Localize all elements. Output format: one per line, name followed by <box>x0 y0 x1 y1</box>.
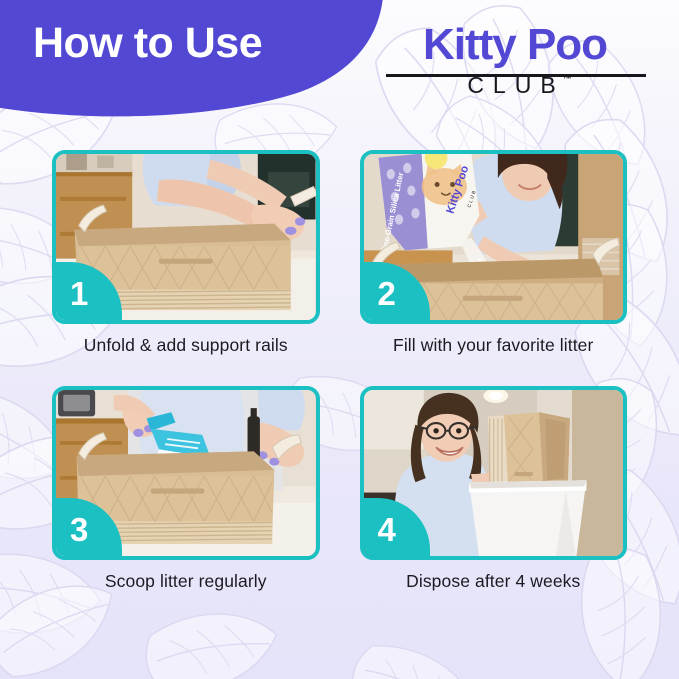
trademark-symbol: ™ <box>563 75 572 84</box>
step-3: 3 Scoop litter regularly <box>52 386 320 592</box>
step-2-caption: Fill with your favorite litter <box>360 335 628 356</box>
step-1: 1 Unfold & add support rails <box>52 150 320 356</box>
step-1-caption: Unfold & add support rails <box>52 335 320 356</box>
logo-club-text: CLUB <box>458 74 564 97</box>
step-number: 1 <box>56 277 88 320</box>
step-4: 4 Dispose after 4 weeks <box>360 386 628 592</box>
step-4-card: 4 <box>360 386 628 560</box>
step-2-card: Fine-Grain Silica Litter Kitty Poo CLUB <box>360 150 628 324</box>
header: How to Use Kitty Poo CLUB ™ <box>0 0 679 140</box>
step-number: 3 <box>56 513 88 556</box>
page-title: How to Use <box>33 22 333 65</box>
brand-logo: Kitty Poo CLUB ™ <box>380 22 650 114</box>
step-3-caption: Scoop litter regularly <box>52 571 320 592</box>
step-1-card: 1 <box>52 150 320 324</box>
step-2: Fine-Grain Silica Litter Kitty Poo CLUB <box>360 150 628 356</box>
logo-wordmark: Kitty Poo <box>380 22 650 68</box>
logo-club-row: CLUB ™ <box>380 74 650 97</box>
step-3-card: 3 <box>52 386 320 560</box>
step-number: 2 <box>364 277 396 320</box>
steps-grid: 1 Unfold & add support rails <box>0 150 679 592</box>
step-number: 4 <box>364 513 396 556</box>
step-4-caption: Dispose after 4 weeks <box>360 571 628 592</box>
infographic-page: How to Use Kitty Poo CLUB ™ <box>0 0 679 679</box>
